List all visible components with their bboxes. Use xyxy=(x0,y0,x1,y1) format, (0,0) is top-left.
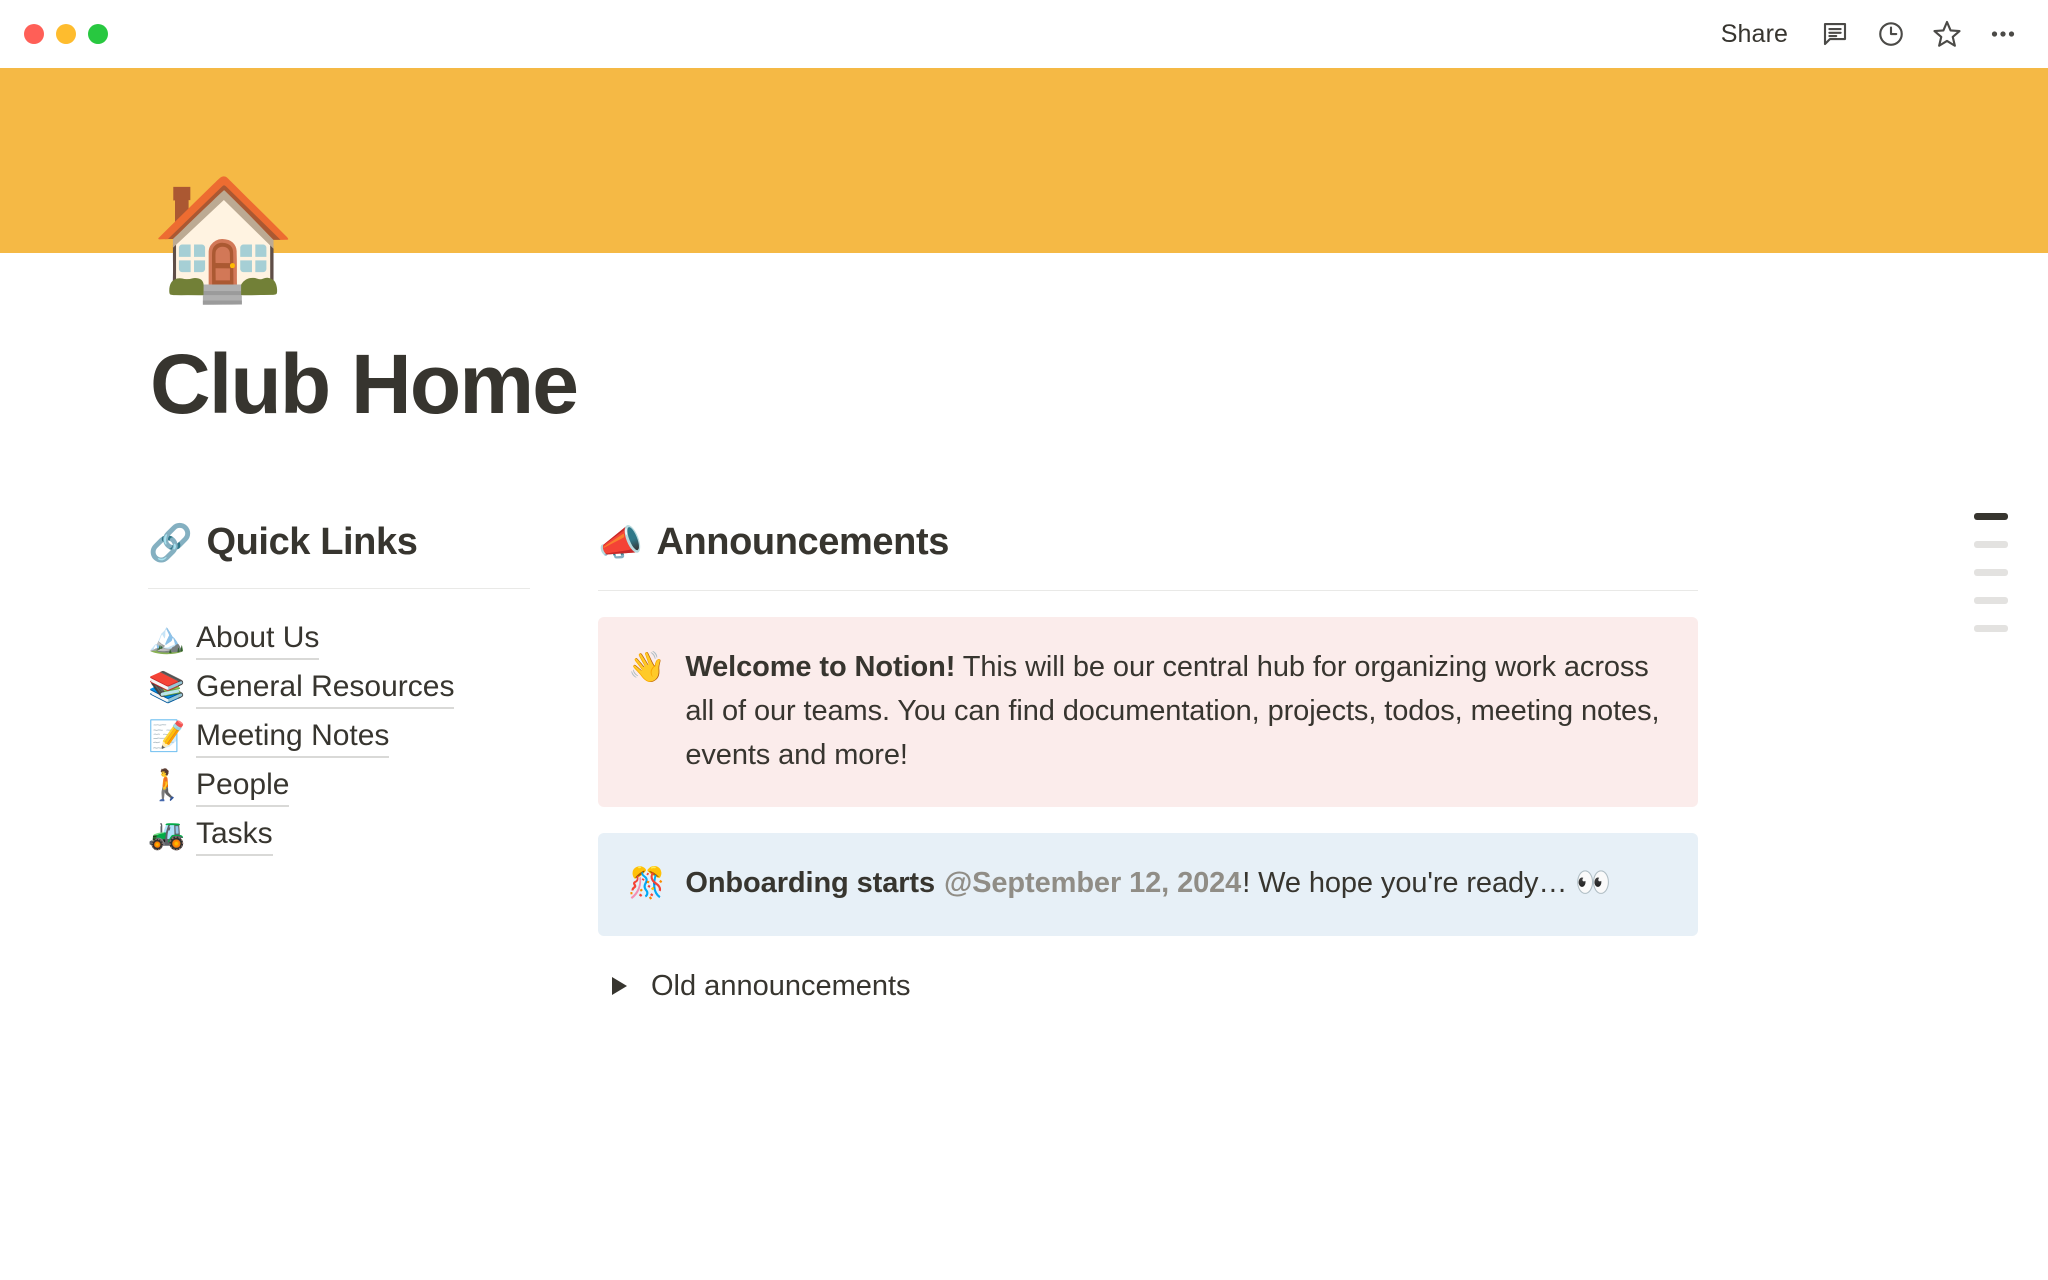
walking-person-icon: 🚶 xyxy=(148,771,182,801)
window-titlebar: Share xyxy=(0,0,2048,68)
quick-link-people[interactable]: 🚶 People xyxy=(148,762,530,811)
page-title[interactable]: Club Home xyxy=(150,340,2048,428)
announcements-column: 📣 Announcements 👋 Welcome to Notion! Thi… xyxy=(598,520,1698,1006)
date-mention[interactable]: @September 12, 2024 xyxy=(943,867,1242,899)
more-options-icon[interactable] xyxy=(1980,11,2026,57)
quick-link-label: General Resources xyxy=(196,668,454,710)
quick-link-label: People xyxy=(196,766,289,808)
page-cover-image[interactable] xyxy=(0,68,2048,253)
waving-hand-icon: 👋 xyxy=(628,645,665,690)
books-icon: 📚 xyxy=(148,673,182,703)
mountain-icon: 🏔️ xyxy=(148,624,182,654)
quick-link-general-resources[interactable]: 📚 General Resources xyxy=(148,664,530,713)
toc-bar[interactable] xyxy=(1974,625,2008,632)
toggle-label: Old announcements xyxy=(651,966,911,1007)
callout-onboarding[interactable]: 🎊 Onboarding starts @September 12, 2024!… xyxy=(598,833,1698,936)
quick-link-label: About Us xyxy=(196,619,319,661)
toggle-old-announcements[interactable]: Old announcements xyxy=(612,966,1698,1007)
quick-link-label: Meeting Notes xyxy=(196,717,389,759)
page-content: Club Home 🔗 Quick Links 🏔️ About Us 📚 xyxy=(0,340,2048,1007)
table-of-contents-minimap[interactable] xyxy=(1974,513,2008,632)
maximize-window-button[interactable] xyxy=(88,24,108,44)
callout-welcome-bold: Welcome to Notion! xyxy=(685,651,955,683)
quick-link-about-us[interactable]: 🏔️ About Us xyxy=(148,615,530,664)
callout-onboarding-body: ! We hope you're ready… 👀 xyxy=(1242,867,1611,899)
window-controls xyxy=(24,24,108,44)
toc-bar-active[interactable] xyxy=(1974,513,2008,520)
two-column-layout: 🔗 Quick Links 🏔️ About Us 📚 General Reso… xyxy=(148,520,2048,1006)
announcements-heading: 📣 Announcements xyxy=(598,520,1698,566)
toc-bar[interactable] xyxy=(1974,569,2008,576)
favorite-star-icon[interactable] xyxy=(1924,11,1970,57)
quick-link-tasks[interactable]: 🚜 Tasks xyxy=(148,811,530,860)
history-clock-icon[interactable] xyxy=(1868,11,1914,57)
confetti-ball-icon: 🎊 xyxy=(628,861,665,906)
announcements-heading-label: Announcements xyxy=(656,520,949,566)
share-button[interactable]: Share xyxy=(1707,14,1802,55)
page-icon-emoji[interactable]: 🏠 xyxy=(150,180,297,298)
announcements-divider xyxy=(598,590,1698,591)
callout-onboarding-bold: Onboarding starts xyxy=(685,867,943,899)
chevron-right-icon[interactable] xyxy=(612,977,627,995)
link-chain-icon: 🔗 xyxy=(148,525,192,561)
tractor-icon: 🚜 xyxy=(148,820,182,850)
notion-window: Share xyxy=(0,0,2048,1280)
callout-welcome-text: Welcome to Notion! This will be our cent… xyxy=(685,645,1668,777)
quick-links-column: 🔗 Quick Links 🏔️ About Us 📚 General Reso… xyxy=(148,520,530,1006)
quick-links-heading: 🔗 Quick Links xyxy=(148,520,530,566)
quick-link-label: Tasks xyxy=(196,815,273,857)
comment-icon[interactable] xyxy=(1812,11,1858,57)
megaphone-icon: 📣 xyxy=(598,525,642,561)
toc-bar[interactable] xyxy=(1974,541,2008,548)
callout-onboarding-text: Onboarding starts @September 12, 2024! W… xyxy=(685,861,1611,905)
quick-links-divider xyxy=(148,588,530,589)
callout-welcome[interactable]: 👋 Welcome to Notion! This will be our ce… xyxy=(598,617,1698,807)
titlebar-actions: Share xyxy=(1707,0,2026,68)
memo-icon: 📝 xyxy=(148,722,182,752)
quick-link-meeting-notes[interactable]: 📝 Meeting Notes xyxy=(148,713,530,762)
toc-bar[interactable] xyxy=(1974,597,2008,604)
close-window-button[interactable] xyxy=(24,24,44,44)
quick-links-heading-label: Quick Links xyxy=(206,520,417,566)
minimize-window-button[interactable] xyxy=(56,24,76,44)
quick-links-list: 🏔️ About Us 📚 General Resources 📝 Meetin… xyxy=(148,615,530,860)
